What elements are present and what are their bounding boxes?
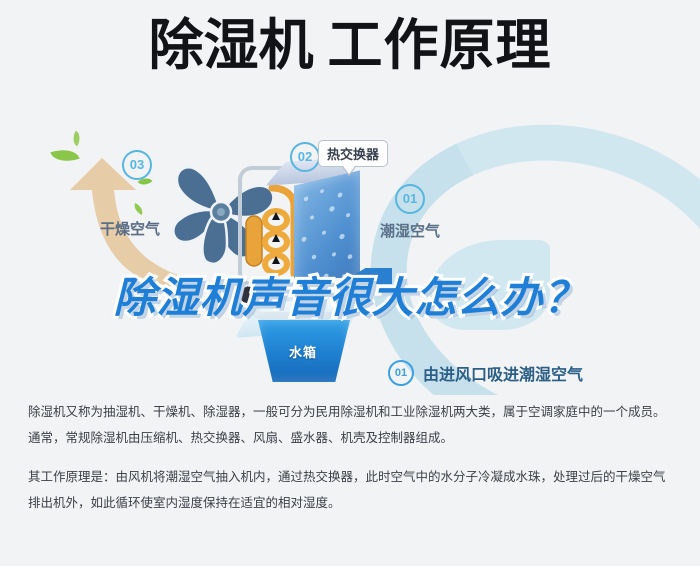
step-number: 01 [388, 360, 414, 386]
step-label: 由进风口吸进潮湿空气 [423, 361, 583, 385]
page-title-part-1: 除湿机 [148, 14, 313, 76]
water-tank-graphic: 水箱 [244, 298, 362, 384]
leaf-icon [69, 131, 83, 147]
diagram-badge-03: 03 [122, 150, 152, 180]
list-item: 01 由进风口吸进潮湿空气 [388, 360, 688, 386]
article-body: 除湿机又称为抽湿机、干燥机、除湿器，一般可分为民用除湿机和工业除湿机两大类，属于… [0, 400, 700, 517]
diagram-badge-01: 01 [395, 184, 425, 214]
page-title: 除湿机工作原理 [0, 18, 700, 73]
paragraph: 其工作原理是：由风机将潮湿空气抽入机内，通过热交换器，此时空气中的水分子冷凝成水… [28, 465, 672, 516]
diagram-badge-02: 02 [290, 142, 320, 172]
paragraph: 除湿机又称为抽湿机、干燥机、除湿器，一般可分为民用除湿机和工业除湿机两大类，属于… [28, 400, 672, 451]
infographic-page: 除湿机工作原理 [0, 0, 700, 566]
diagram-label-humid-air: 潮湿空气 [380, 220, 440, 241]
diagram-label-dry-air: 干燥空气 [100, 218, 160, 239]
working-principle-diagram: 水箱 03 干燥空气 02 热交换器 01 潮湿空气 01 由进风口吸进潮湿空气… [0, 120, 700, 395]
page-title-text: 除湿机工作原理 [148, 18, 551, 73]
heat-exchanger-callout: 热交换器 [318, 140, 388, 167]
water-tank-label: 水箱 [244, 342, 362, 361]
page-title-part-2: 工作原理 [328, 14, 552, 76]
step-list: 01 由进风口吸进潮湿空气 02 潮湿空气经过蒸发器冷凝成水珠 03 从上部出风… [388, 360, 688, 395]
